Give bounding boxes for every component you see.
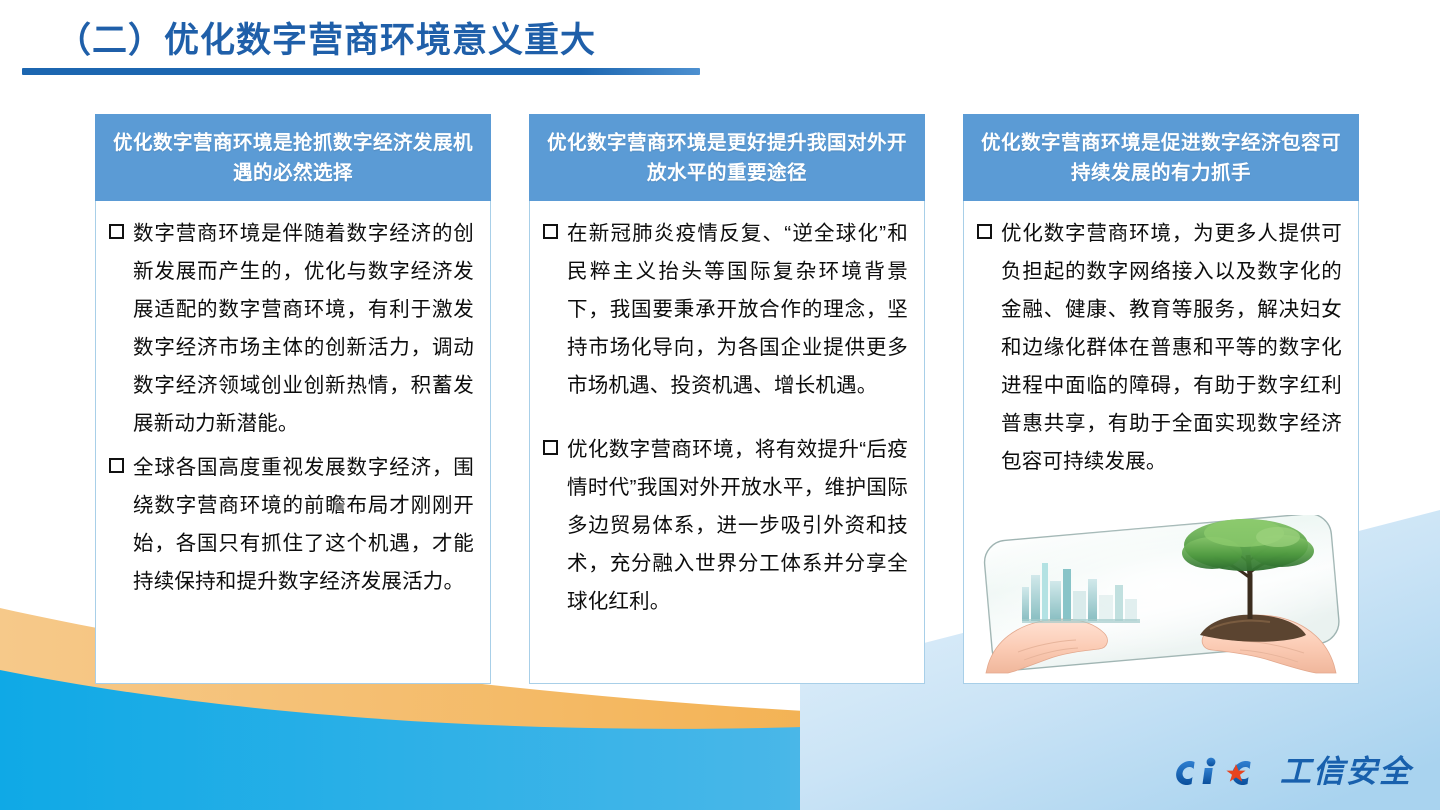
content-columns: 优化数字营商环境是抢抓数字经济发展机遇的必然选择 数字营商环境是伴随着数字经济的…: [95, 114, 1360, 684]
logo-company-name: 工信安全: [1280, 755, 1412, 789]
content-card-3: 优化数字营商环境是促进数字经济包容可持续发展的有力抓手 优化数字营商环境，为更多…: [963, 114, 1359, 684]
list-item: 优化数字营商环境，为更多人提供可负担起的数字网络接入以及数字化的金融、健康、教育…: [977, 215, 1342, 481]
bullet-text: 全球各国高度重视发展数字经济，围绕数字营商环境的前瞻布局才刚刚开始，各国只有抓住…: [133, 449, 474, 601]
square-bullet-icon: [109, 224, 124, 239]
list-item: 全球各国高度重视发展数字经济，围绕数字营商环境的前瞻布局才刚刚开始，各国只有抓住…: [109, 449, 474, 601]
card-body-1: 数字营商环境是伴随着数字经济的创新发展而产生的，优化与数字经济发展适配的数字营商…: [95, 201, 491, 684]
slide-root: （二）优化数字营商环境意义重大 优化数字营商环境是抢抓数字经济发展机遇的必然选择…: [0, 0, 1440, 810]
card-header-2: 优化数字营商环境是更好提升我国对外开放水平的重要途径: [529, 114, 925, 201]
bullet-text: 优化数字营商环境，将有效提升“后疫情时代”我国对外开放水平，维护国际多边贸易体系…: [567, 431, 908, 621]
page-title-text: （二）优化数字营商环境意义重大: [22, 18, 722, 64]
bullet-text: 优化数字营商环境，为更多人提供可负担起的数字网络接入以及数字化的金融、健康、教育…: [1001, 215, 1342, 481]
title-underline-rule: [22, 68, 700, 75]
cic-logo-icon: [1166, 752, 1274, 792]
square-bullet-icon: [109, 458, 124, 473]
bullet-text: 在新冠肺炎疫情反复、“逆全球化”和民粹主义抬头等国际复杂环境背景下，我国要秉承开…: [567, 215, 908, 405]
list-item: 在新冠肺炎疫情反复、“逆全球化”和民粹主义抬头等国际复杂环境背景下，我国要秉承开…: [543, 215, 908, 405]
square-bullet-icon: [977, 224, 992, 239]
list-item: 优化数字营商环境，将有效提升“后疫情时代”我国对外开放水平，维护国际多边贸易体系…: [543, 431, 908, 621]
card-body-3: 优化数字营商环境，为更多人提供可负担起的数字网络接入以及数字化的金融、健康、教育…: [963, 201, 1359, 684]
brand-logo: 工信安全: [1166, 752, 1412, 792]
bullet-text: 数字营商环境是伴随着数字经济的创新发展而产生的，优化与数字经济发展适配的数字营商…: [133, 215, 474, 443]
card-header-3: 优化数字营商环境是促进数字经济包容可持续发展的有力抓手: [963, 114, 1359, 201]
square-bullet-icon: [543, 224, 558, 239]
list-item: 数字营商环境是伴随着数字经济的创新发展而产生的，优化与数字经济发展适配的数字营商…: [109, 215, 474, 443]
hands-city-tree-illustration: [978, 515, 1344, 675]
square-bullet-icon: [543, 440, 558, 455]
card-header-1: 优化数字营商环境是抢抓数字经济发展机遇的必然选择: [95, 114, 491, 201]
page-title: （二）优化数字营商环境意义重大: [22, 18, 722, 75]
card-body-2: 在新冠肺炎疫情反复、“逆全球化”和民粹主义抬头等国际复杂环境背景下，我国要秉承开…: [529, 201, 925, 684]
content-card-1: 优化数字营商环境是抢抓数字经济发展机遇的必然选择 数字营商环境是伴随着数字经济的…: [95, 114, 491, 684]
content-card-2: 优化数字营商环境是更好提升我国对外开放水平的重要途径 在新冠肺炎疫情反复、“逆全…: [529, 114, 925, 684]
